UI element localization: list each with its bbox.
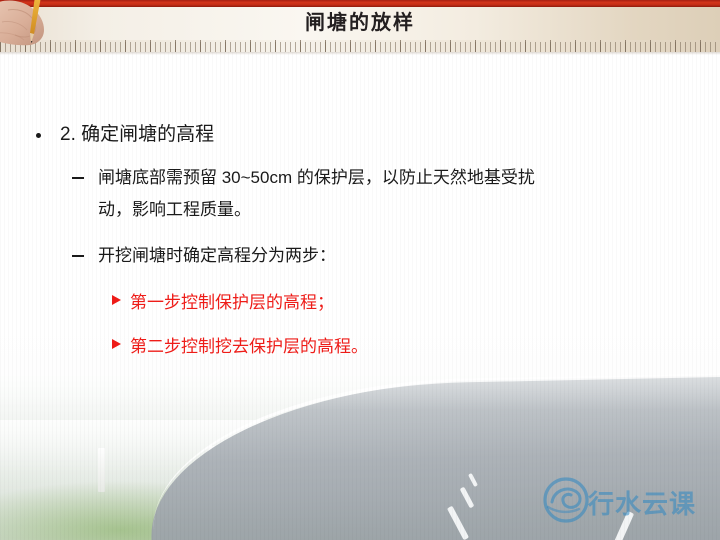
slide: 闸塘的放样 2. 确定闸塘的高程 闸塘底部需预留 30~50cm 的保护层，以防…: [0, 0, 720, 540]
header-red-bar: [0, 0, 720, 7]
arrow-bullet-icon: [112, 339, 121, 349]
spacer: [0, 276, 720, 286]
header-shadow: [0, 52, 720, 55]
bullet-dash-icon: [72, 177, 84, 179]
watermark: 行水云课: [542, 472, 712, 528]
ruler-major-ticks: [0, 40, 720, 52]
bullet-level3-text: 第二步控制挖去保护层的高程。: [130, 337, 368, 356]
swirl-wave-circle-icon: [542, 476, 590, 524]
bullet-dot-icon: [36, 133, 41, 138]
watermark-text: 行水云课: [588, 484, 696, 521]
bullet-level3-text: 第一步控制保护层的高程；: [130, 293, 334, 312]
bullet-level2-line1: 开挖闸塘时确定高程分为两步：: [98, 240, 720, 272]
ruler-tape-icon: [0, 40, 720, 52]
page-title: 闸塘的放样: [0, 9, 720, 37]
bullet-level3: 第二步控制挖去保护层的高程。: [0, 330, 720, 364]
slide-body: 2. 确定闸塘的高程 闸塘底部需预留 30~50cm 的保护层，以防止天然地基受…: [0, 120, 720, 374]
bullet-level1-text: 2. 确定闸塘的高程: [60, 124, 214, 145]
bullet-level2: 开挖闸塘时确定高程分为两步：: [0, 240, 720, 272]
bullet-level2-line2: 动，影响工程质量。: [98, 194, 720, 226]
bullet-level2: 闸塘底部需预留 30~50cm 的保护层，以防止天然地基受扰 动，影响工程质量。: [0, 162, 720, 226]
roadside-post: [98, 448, 105, 492]
bullet-level1: 2. 确定闸塘的高程: [0, 120, 720, 150]
spacer: [0, 230, 720, 240]
bullet-level2-line1: 闸塘底部需预留 30~50cm 的保护层，以防止天然地基受扰: [98, 162, 720, 194]
arrow-bullet-icon: [112, 295, 121, 305]
bullet-dash-icon: [72, 255, 84, 257]
bullet-level3: 第一步控制保护层的高程；: [0, 286, 720, 320]
slide-header: 闸塘的放样: [0, 0, 720, 52]
swirl-wave-circle-svg: [542, 476, 590, 524]
